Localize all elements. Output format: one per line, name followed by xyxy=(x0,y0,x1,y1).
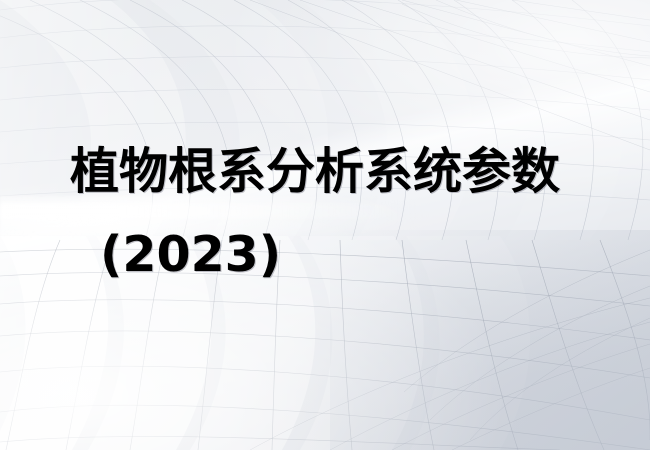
title-block: 植物根系分析系统参数 (2023) xyxy=(0,0,650,450)
page-title: 植物根系分析系统参数 xyxy=(70,142,580,202)
page-title-year: (2023) xyxy=(100,225,281,285)
slide-canvas: 植物根系分析系统参数 (2023) xyxy=(0,0,650,450)
